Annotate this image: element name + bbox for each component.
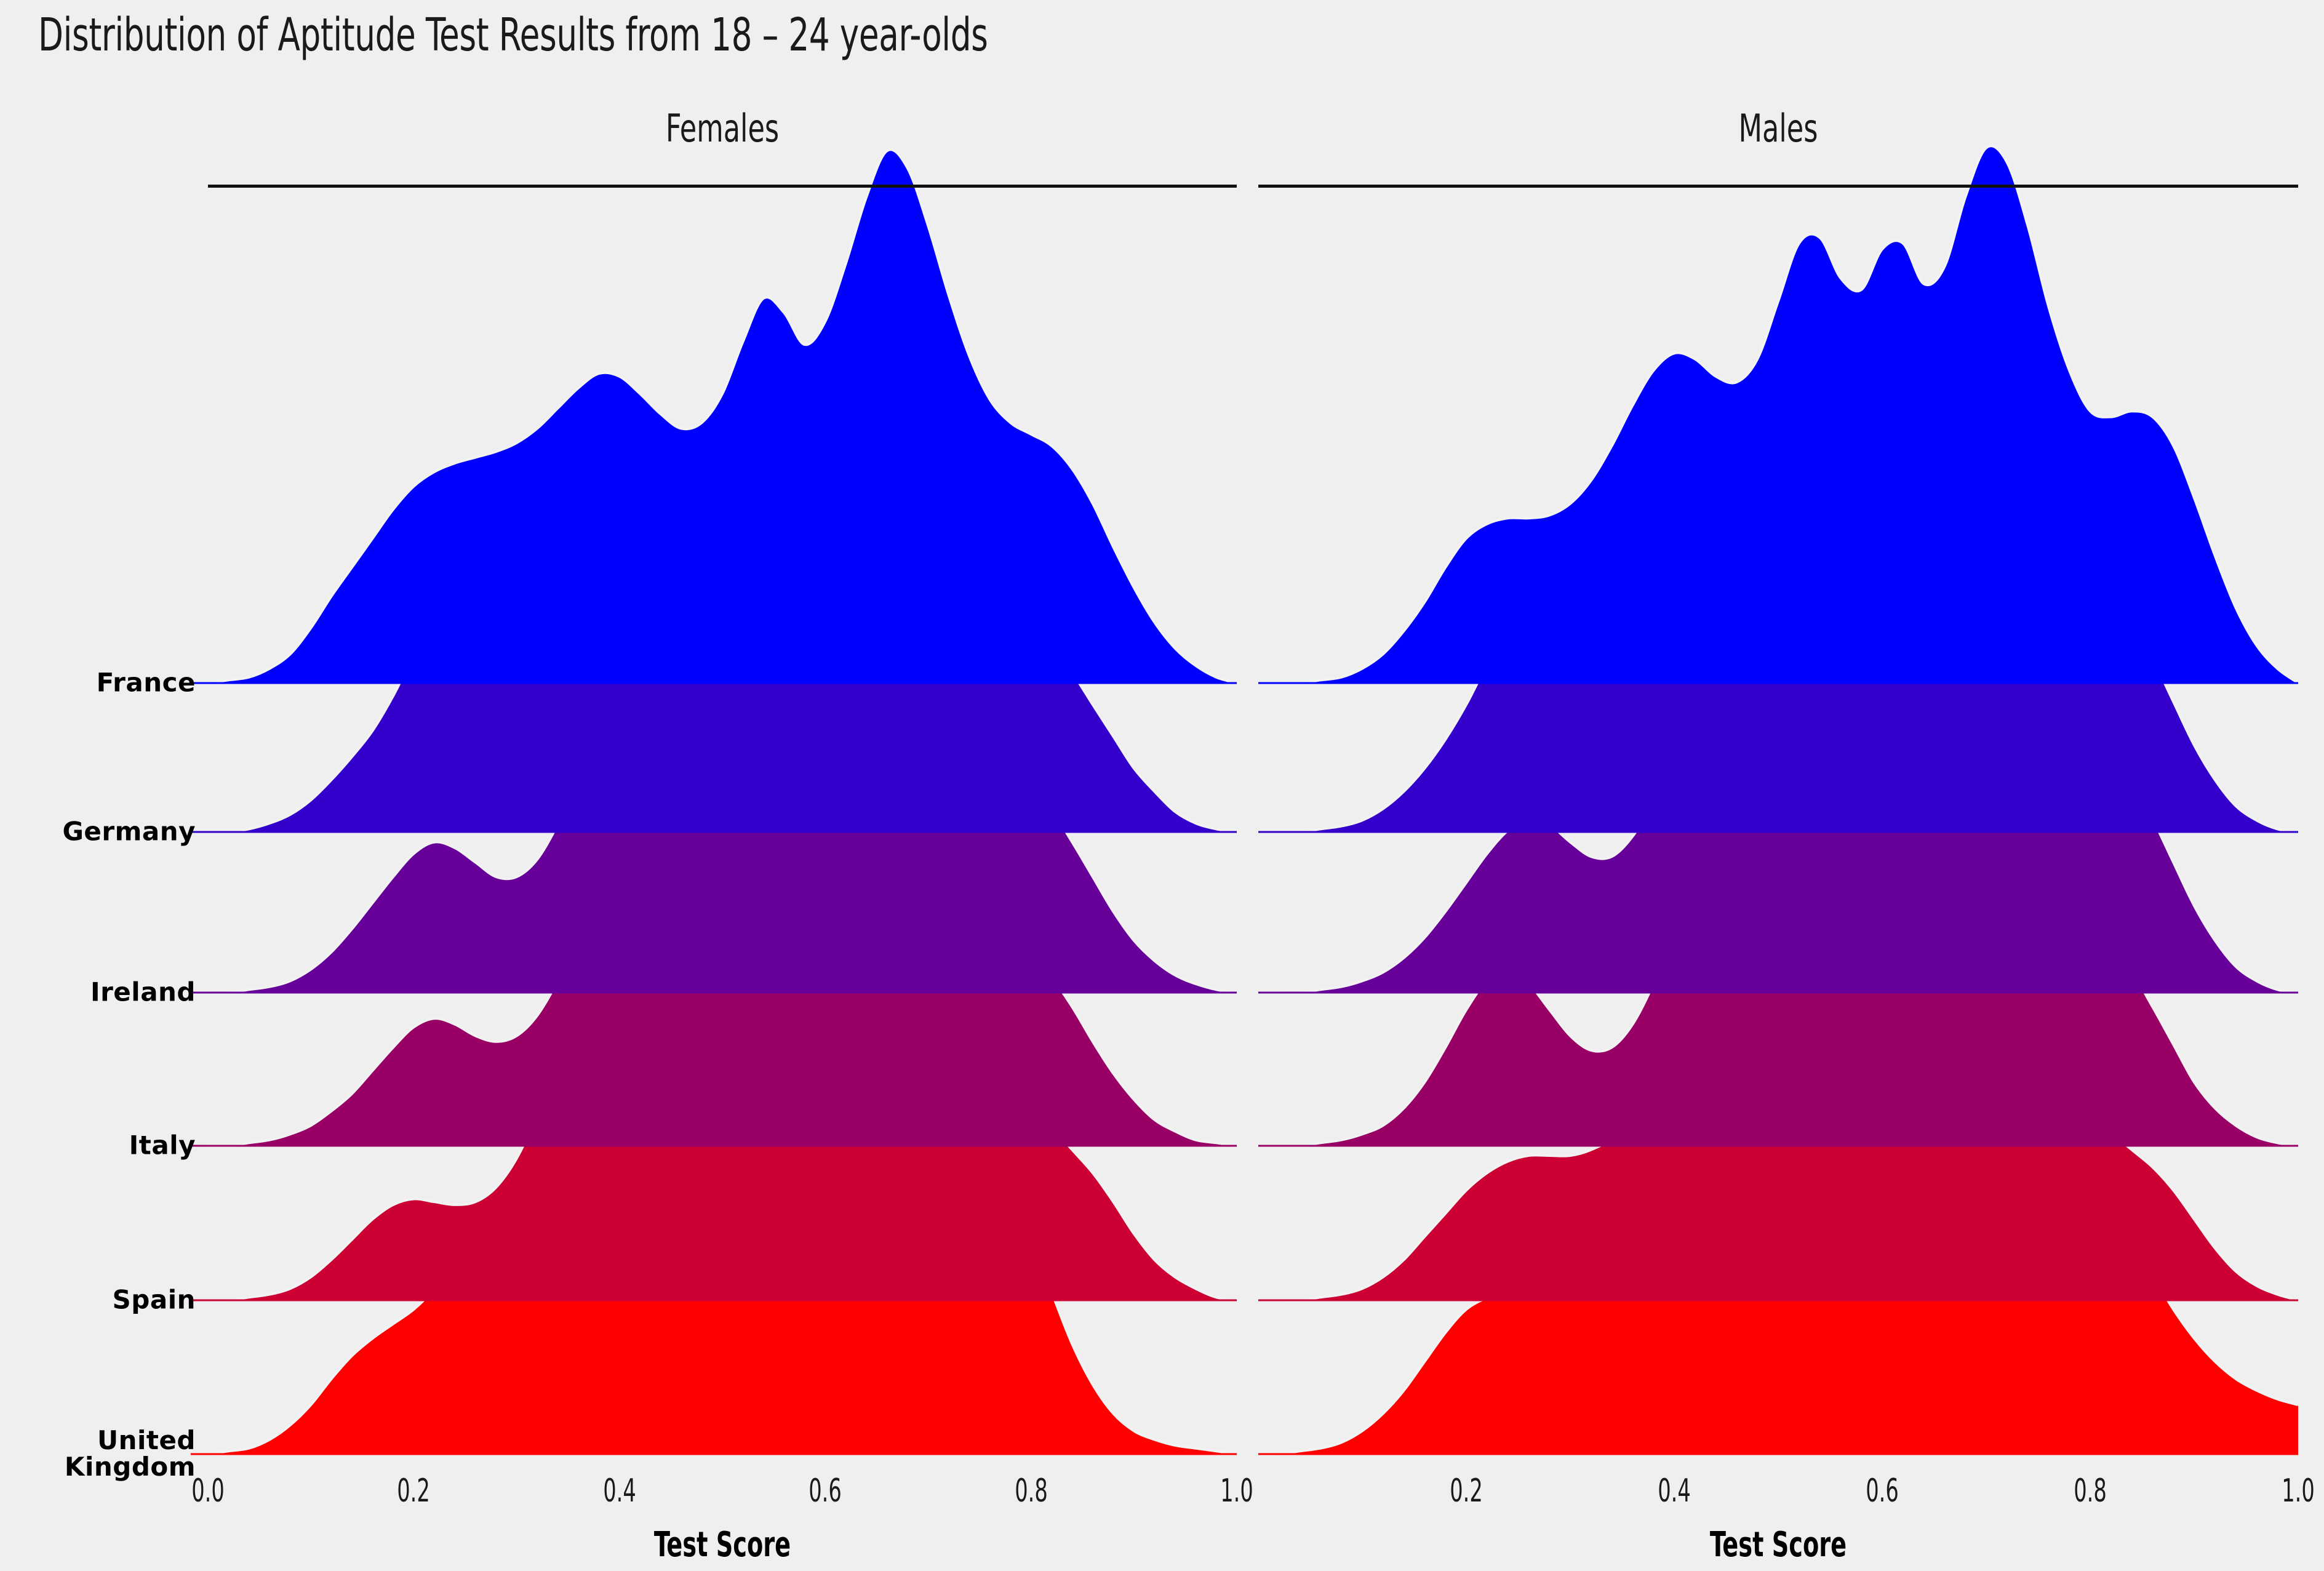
panel-title-males: Males bbox=[1739, 106, 1818, 151]
ridge-outline bbox=[1258, 968, 2298, 1454]
ridge-spain-females bbox=[191, 807, 1237, 1300]
x-tick-label: 1.0 bbox=[1220, 1473, 1253, 1509]
x-tick-label: 0.2 bbox=[1450, 1473, 1483, 1509]
ridge-france-males bbox=[1258, 146, 2298, 683]
ridge-fill bbox=[1258, 146, 2298, 683]
x-tick-label: 0.4 bbox=[1658, 1473, 1691, 1509]
x-tick-label: 0.8 bbox=[2074, 1473, 2107, 1509]
figure-canvas: Distribution of Aptitude Test Results fr… bbox=[0, 0, 2324, 1571]
ridge-fill bbox=[208, 535, 1237, 993]
ridge-italy-males bbox=[1258, 674, 2298, 1146]
ridgeline-plot-area bbox=[0, 0, 2324, 1571]
country-label-spain: Spain bbox=[11, 1287, 196, 1314]
ridge-fill bbox=[1258, 796, 2298, 1300]
ridge-ireland-males bbox=[1258, 535, 2298, 993]
ridge-outline bbox=[1258, 388, 2298, 832]
ridge-fill bbox=[1258, 968, 2298, 1454]
ridge-fill bbox=[1258, 674, 2298, 1146]
ridge-outline bbox=[208, 694, 1237, 1146]
panel-separator-rule bbox=[1258, 185, 2298, 188]
ridge-outline bbox=[208, 939, 1237, 1454]
panel-title-females: Females bbox=[666, 106, 779, 151]
ridge-united-kingdom-females bbox=[191, 939, 1237, 1454]
x-axis-title-females: Test Score bbox=[654, 1525, 791, 1565]
x-tick-label: 0.6 bbox=[809, 1473, 842, 1509]
ridge-germany-females bbox=[191, 432, 1237, 832]
x-tick-label: 0.8 bbox=[1015, 1473, 1048, 1509]
country-label-united-kingdom: United Kingdom bbox=[11, 1428, 196, 1481]
ridge-fill bbox=[1258, 535, 2298, 993]
country-label-ireland: Ireland bbox=[11, 980, 196, 1006]
ridge-fill bbox=[208, 807, 1237, 1300]
ridge-ireland-females bbox=[191, 535, 1237, 993]
ridge-italy-females bbox=[191, 694, 1237, 1146]
x-tick-label: 0.2 bbox=[397, 1473, 431, 1509]
x-tick-label: 0.4 bbox=[603, 1473, 636, 1509]
ridge-outline bbox=[208, 807, 1237, 1300]
x-tick-label: 0.0 bbox=[191, 1473, 225, 1509]
ridge-germany-males bbox=[1258, 388, 2298, 832]
panel-separator-rule bbox=[208, 185, 1237, 188]
ridge-spain-males bbox=[1258, 796, 2298, 1300]
figure-title: Distribution of Aptitude Test Results fr… bbox=[38, 9, 988, 62]
ridge-fill bbox=[208, 432, 1237, 832]
ridge-france-females bbox=[191, 150, 1237, 683]
ridge-outline bbox=[208, 432, 1237, 832]
country-label-germany: Germany bbox=[11, 819, 196, 845]
ridge-united-kingdom-males bbox=[1258, 968, 2298, 1454]
x-tick-label: 1.0 bbox=[2282, 1473, 2315, 1509]
x-tick-label: 0.6 bbox=[1866, 1473, 1899, 1509]
ridge-outline bbox=[208, 535, 1237, 993]
ridge-fill bbox=[208, 150, 1237, 683]
country-label-france: France bbox=[11, 670, 196, 697]
ridge-outline bbox=[208, 150, 1237, 683]
ridge-fill bbox=[1258, 388, 2298, 832]
ridge-fill bbox=[208, 939, 1237, 1454]
country-label-italy: Italy bbox=[11, 1133, 196, 1159]
ridge-outline bbox=[1258, 146, 2298, 683]
ridge-fill bbox=[208, 694, 1237, 1146]
ridge-outline bbox=[1258, 796, 2298, 1300]
x-axis-title-males: Test Score bbox=[1710, 1525, 1847, 1565]
ridge-outline bbox=[1258, 535, 2298, 993]
ridge-outline bbox=[1258, 674, 2298, 1146]
